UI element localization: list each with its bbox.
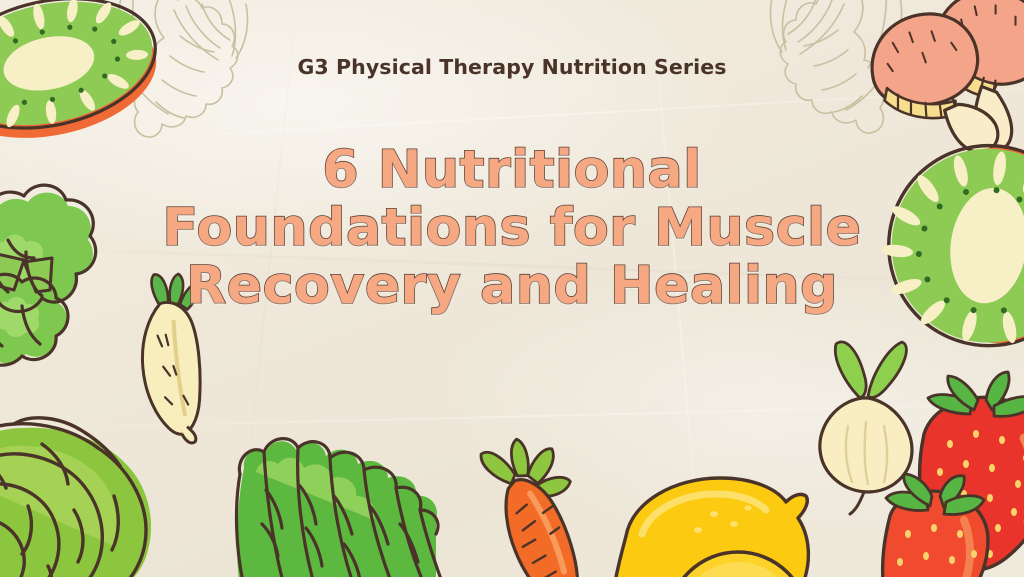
page-title-line-3: Recovery and Healing bbox=[163, 257, 862, 315]
text-block: G3 Physical Therapy Nutrition Series 6 N… bbox=[0, 0, 1024, 315]
cabbage-bottom-left-icon bbox=[0, 400, 214, 577]
kale-bottom-center-icon bbox=[226, 428, 456, 577]
page-title: 6 Nutritional Foundations for Muscle Rec… bbox=[163, 141, 862, 315]
strawberries-bottom-right-icon bbox=[876, 378, 1024, 577]
slide-canvas: G3 Physical Therapy Nutrition Series 6 N… bbox=[0, 0, 1024, 577]
page-title-line-2: Foundations for Muscle bbox=[163, 199, 862, 257]
page-title-line-1: 6 Nutritional bbox=[163, 141, 862, 199]
eyebrow-series-label: G3 Physical Therapy Nutrition Series bbox=[297, 55, 726, 79]
